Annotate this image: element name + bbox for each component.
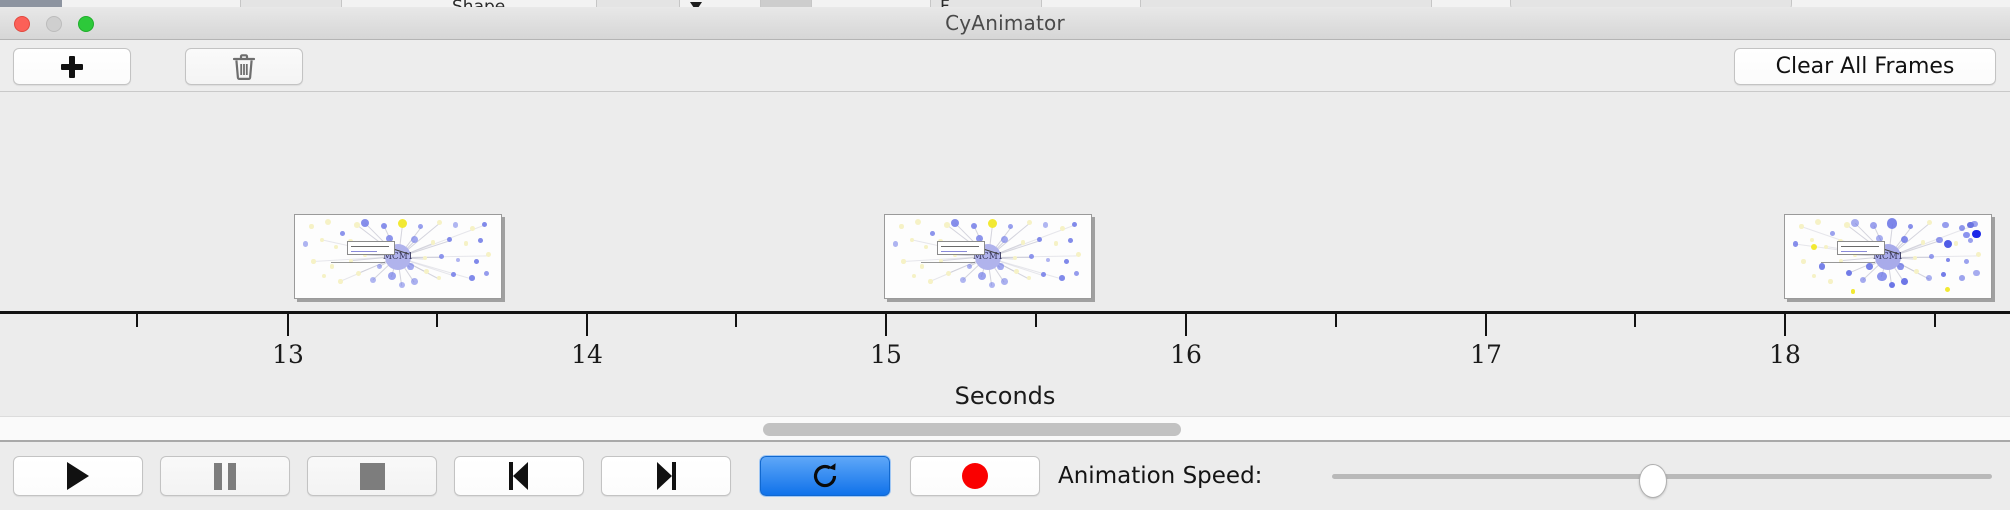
- keyframe-thumbnail[interactable]: MCM1: [884, 214, 1092, 299]
- axis-tick-minor: [136, 314, 138, 327]
- axis-tick-label: 16: [1170, 340, 1202, 369]
- network-node: [901, 259, 905, 263]
- network-node: [303, 241, 309, 247]
- record-button[interactable]: [910, 456, 1040, 496]
- network-node: [988, 219, 997, 228]
- network-node: [1929, 254, 1934, 259]
- network-node: [1967, 222, 1973, 228]
- record-icon: [962, 463, 988, 489]
- network-node: [946, 271, 951, 276]
- network-node: [1963, 232, 1970, 239]
- network-node: [1851, 289, 1856, 294]
- playback-control-bar: Animation Speed:: [0, 444, 2010, 510]
- network-node: [431, 240, 435, 244]
- network-node: [1027, 220, 1032, 225]
- network-node: [447, 237, 452, 242]
- network-node: [989, 282, 995, 288]
- network-node: [439, 254, 444, 259]
- network-node: [1074, 271, 1079, 276]
- network-node: [470, 226, 475, 231]
- network-node: [453, 222, 458, 227]
- network-node: [1870, 222, 1877, 229]
- network-node: [311, 259, 315, 263]
- network-node: [1041, 272, 1046, 277]
- skip-previous-icon: [506, 462, 532, 490]
- network-node: [309, 224, 313, 228]
- add-frame-button[interactable]: [13, 48, 131, 85]
- network-node: [399, 282, 405, 288]
- network-node: [1027, 276, 1031, 280]
- network-node: [971, 223, 977, 229]
- network-node: [1059, 275, 1065, 281]
- network-thumbnail-a: MCM1: [885, 215, 1091, 298]
- network-node: [418, 224, 423, 229]
- network-node: [338, 279, 342, 283]
- network-node: [1801, 259, 1805, 263]
- network-node: [912, 274, 916, 278]
- axis-tick-minor: [1335, 314, 1337, 327]
- network-node: [1887, 218, 1898, 229]
- network-node: [1846, 270, 1853, 277]
- network-node: [1959, 225, 1965, 231]
- network-node: [1824, 245, 1828, 249]
- trash-icon: [231, 53, 257, 81]
- slider-thumb[interactable]: [1639, 464, 1667, 498]
- network-node: [1043, 222, 1048, 227]
- network-node: [1973, 270, 1980, 277]
- network-node: [340, 231, 345, 236]
- network-node: [1972, 230, 1980, 238]
- network-node: [928, 279, 932, 283]
- network-node: [1799, 224, 1803, 228]
- network-node: [1060, 226, 1065, 231]
- network-node: [451, 272, 456, 277]
- clear-all-frames-button[interactable]: Clear All Frames: [1734, 48, 1996, 85]
- network-node: [486, 252, 491, 257]
- network-node: [370, 277, 376, 283]
- network-node: [1064, 259, 1069, 264]
- axis-tick-major: [885, 314, 887, 336]
- network-node: [1959, 275, 1965, 281]
- annotation-text-line: [351, 251, 377, 252]
- node-annotation-box: [1837, 241, 1885, 255]
- network-node: [967, 264, 972, 269]
- network-node: [1945, 287, 1950, 292]
- network-node: [1954, 241, 1959, 246]
- network-node: [437, 220, 442, 225]
- axis-tick-major: [586, 314, 588, 336]
- node-annotation-box: [937, 241, 985, 255]
- network-node: [910, 238, 914, 242]
- pause-icon: [214, 463, 236, 490]
- toolbar: Clear All Frames: [0, 40, 2010, 92]
- network-node: [920, 264, 925, 269]
- skip-previous-button[interactable]: [454, 456, 584, 496]
- network-node: [1815, 219, 1821, 225]
- stop-icon: [360, 463, 385, 490]
- loop-button[interactable]: [760, 456, 890, 496]
- network-node: [437, 276, 441, 280]
- timeline-scrollbar[interactable]: [0, 416, 2010, 442]
- plus-icon: [60, 55, 84, 79]
- stop-button[interactable]: [307, 456, 437, 496]
- axis-tick-label: 15: [870, 340, 902, 369]
- axis-tick-major: [287, 314, 289, 336]
- caption-text-line: [1821, 262, 1875, 263]
- network-node: [1054, 241, 1059, 246]
- caption-text-line: [331, 262, 385, 263]
- network-node: [1927, 220, 1932, 225]
- network-node: [1944, 240, 1952, 248]
- scrollbar-thumb[interactable]: [763, 423, 1181, 436]
- network-node: [1037, 237, 1042, 242]
- pause-button[interactable]: [160, 456, 290, 496]
- network-node: [1068, 238, 1073, 243]
- axis-tick-major: [1485, 314, 1487, 336]
- network-node: [1877, 272, 1886, 281]
- annotation-text-line: [351, 246, 389, 247]
- network-node: [354, 222, 360, 228]
- network-node: [978, 272, 986, 280]
- network-node: [1793, 241, 1799, 247]
- network-node: [1942, 222, 1949, 229]
- annotation-text-line: [1841, 246, 1879, 247]
- network-node: [1936, 237, 1943, 244]
- network-node: [1946, 258, 1950, 262]
- play-icon: [67, 462, 89, 490]
- skip-next-button[interactable]: [601, 456, 731, 496]
- animation-speed-label: Animation Speed:: [1058, 456, 1262, 496]
- network-node: [320, 238, 324, 242]
- network-node: [930, 231, 935, 236]
- network-node: [1976, 252, 1981, 257]
- network-node: [464, 241, 469, 246]
- loop-icon: [810, 461, 840, 491]
- network-node: [1860, 277, 1866, 283]
- network-node: [411, 278, 418, 285]
- network-node: [330, 264, 335, 269]
- caption-text-line: [921, 262, 975, 263]
- network-node: [1901, 278, 1908, 285]
- network-node: [469, 275, 475, 281]
- network-node: [1968, 238, 1973, 243]
- axis-tick-minor: [436, 314, 438, 327]
- network-node: [1076, 252, 1081, 257]
- network-node: [356, 271, 361, 276]
- network-node: [1812, 274, 1816, 278]
- axis-tick-minor: [1934, 314, 1936, 327]
- animation-speed-slider[interactable]: [1332, 456, 1992, 496]
- node-annotation-box: [347, 241, 395, 255]
- network-node: [924, 245, 928, 249]
- network-node: [456, 258, 460, 262]
- network-node: [944, 222, 950, 228]
- network-node: [1941, 272, 1946, 277]
- network-node: [1001, 278, 1008, 285]
- network-node: [1889, 282, 1895, 288]
- network-node: [1908, 224, 1913, 229]
- network-node: [1828, 279, 1832, 283]
- network-node: [478, 238, 483, 243]
- network-node: [484, 271, 489, 276]
- network-node: [325, 219, 331, 225]
- axis-tick-minor: [735, 314, 737, 327]
- network-node: [915, 219, 921, 225]
- axis-tick-minor: [1634, 314, 1636, 327]
- title-bar: CyAnimator: [0, 7, 2010, 40]
- network-node: [1913, 256, 1917, 260]
- timeline-panel[interactable]: MCM1 MCM1 MCM1 2131415161718 Seconds: [0, 92, 2010, 416]
- network-node: [423, 256, 427, 260]
- network-node: [1008, 224, 1013, 229]
- annotation-text-line: [941, 251, 967, 252]
- network-node: [388, 272, 396, 280]
- annotation-text-line: [941, 246, 979, 247]
- network-node: [1072, 222, 1077, 227]
- axis-tick-label: 14: [571, 340, 603, 369]
- network-node: [1013, 256, 1017, 260]
- network-node: [1926, 275, 1932, 281]
- timeline-axis: [0, 311, 2010, 314]
- network-node: [960, 277, 966, 283]
- axis-tick-minor: [1035, 314, 1037, 327]
- network-node: [1021, 240, 1025, 244]
- network-node: [1810, 238, 1814, 242]
- axis-tick-major: [1784, 314, 1786, 336]
- annotation-text-line: [1841, 251, 1867, 252]
- network-node: [377, 264, 382, 269]
- axis-title: Seconds: [0, 382, 2010, 410]
- delete-frame-button[interactable]: [185, 48, 303, 85]
- network-node: [1830, 231, 1835, 236]
- network-node: [1921, 240, 1925, 244]
- axis-tick-label: 17: [1470, 340, 1502, 369]
- axis-tick-major: [1185, 314, 1187, 336]
- network-node: [482, 222, 487, 227]
- network-node: [334, 245, 338, 249]
- network-node: [1964, 259, 1969, 264]
- axis-tick-label: 13: [272, 340, 304, 369]
- network-node: [381, 223, 387, 229]
- network-node: [893, 241, 899, 247]
- cyanimator-window: Shape F CyAnimator Clear All Frames MCM1: [0, 0, 2010, 510]
- network-thumbnail-b: MCM1: [1785, 215, 1991, 298]
- network-thumbnail-a: MCM1: [295, 215, 501, 298]
- keyframe-thumbnail[interactable]: MCM1: [294, 214, 502, 299]
- network-node: [899, 224, 903, 228]
- play-button[interactable]: [13, 456, 143, 496]
- skip-next-icon: [653, 462, 679, 490]
- keyframe-thumbnail[interactable]: MCM1: [1784, 214, 1992, 299]
- network-node: [1866, 263, 1873, 270]
- network-node: [1811, 244, 1817, 250]
- network-node: [322, 274, 326, 278]
- window-title: CyAnimator: [0, 7, 2010, 40]
- network-node: [1029, 254, 1034, 259]
- axis-tick-label: 18: [1769, 340, 1801, 369]
- network-node: [1844, 222, 1850, 228]
- network-node: [474, 259, 479, 264]
- network-node: [1046, 258, 1050, 262]
- network-node: [398, 219, 407, 228]
- network-node: [1819, 263, 1825, 269]
